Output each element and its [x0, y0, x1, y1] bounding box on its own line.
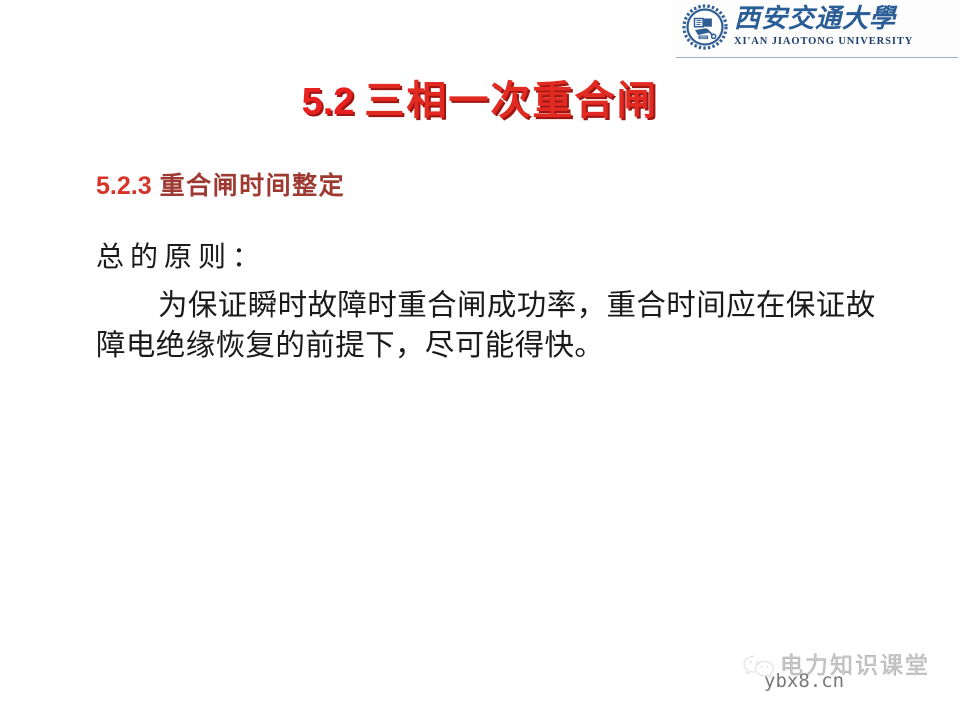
university-name-cn: 西安交通大學 [734, 4, 913, 34]
subheading-text: 重合闸时间整定 [160, 173, 346, 200]
university-brand-band: 1896 西安交通大學 XI'AN JIAOTONG UNIVERSITY [672, 0, 960, 60]
svg-text:1896: 1896 [700, 36, 707, 40]
title-number: 5.2 [302, 81, 355, 123]
title-text: 三相一次重合闸 [364, 78, 658, 123]
brand-texts: 西安交通大學 XI'AN JIAOTONG UNIVERSITY [734, 4, 913, 48]
principle-label: 总的原则： [96, 238, 906, 278]
slide-canvas: 1896 西安交通大學 XI'AN JIAOTONG UNIVERSITY 5.… [0, 0, 960, 720]
principle-paragraph: 为保证瞬时故障时重合闸成功率，重合时间应在保证故障电绝缘恢复的前提下，尽可能得快… [96, 286, 896, 366]
watermark-url: ybx8.cn [764, 670, 844, 692]
section-subheading: 5.2.3重合闸时间整定 [96, 166, 345, 202]
brand-inner: 1896 西安交通大學 XI'AN JIAOTONG UNIVERSITY [682, 4, 913, 50]
university-name-en: XI'AN JIAOTONG UNIVERSITY [734, 35, 913, 48]
xjtu-emblem-icon: 1896 [682, 4, 728, 50]
slide-body: 总的原则： 为保证瞬时故障时重合闸成功率，重合时间应在保证故障电绝缘恢复的前提下… [96, 238, 906, 366]
page-title: 5.2三相一次重合闸 [0, 68, 960, 126]
subheading-number: 5.2.3 [96, 172, 152, 200]
watermark: 电力知识课堂 ybx8.cn [742, 652, 952, 710]
brand-divider-rule [676, 57, 958, 58]
